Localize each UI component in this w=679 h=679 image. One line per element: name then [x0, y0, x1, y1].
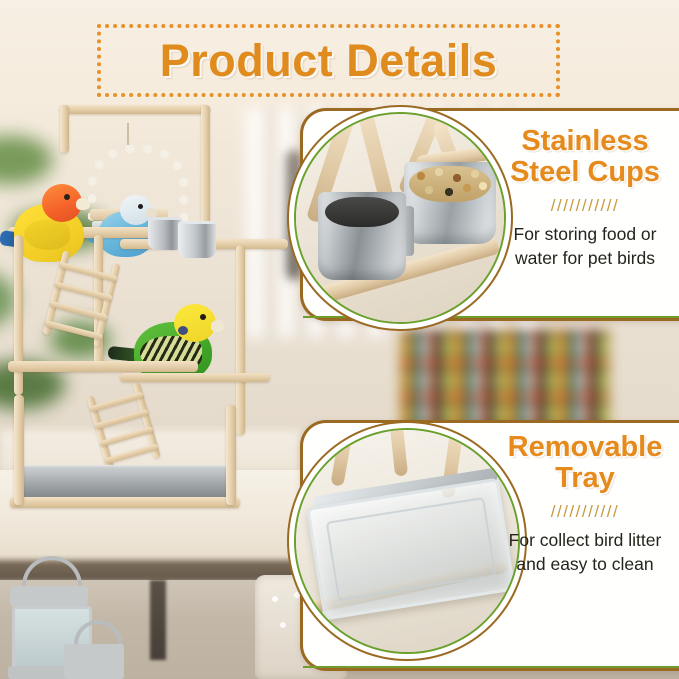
photo-lantern-small [60, 620, 130, 679]
feature-text-stainless-steel-cups: Stainless Steel Cups /////////// For sto… [492, 126, 678, 271]
feature-heading-line2: Tray [555, 462, 615, 494]
photo-ladder [86, 380, 167, 472]
steel-cup-with-seed [404, 162, 496, 244]
infographic-canvas: Product Details Stainless Steel Cups ///… [0, 0, 679, 679]
stand-post [226, 405, 236, 505]
removable-tray-photo [296, 430, 518, 652]
feature-image-removable-tray [294, 428, 520, 654]
stand-mid-platform [8, 361, 198, 372]
photo-steel-cup [178, 221, 216, 258]
feature-divider: /////////// [492, 196, 678, 216]
feature-heading: Removable Tray [492, 432, 678, 495]
feature-divider: /////////// [492, 502, 678, 522]
feature-body-line1: For collect bird litter [509, 530, 662, 550]
stand-post [201, 105, 210, 235]
feature-body: For storing food or water for pet birds [492, 222, 678, 272]
stand-base-rail [10, 497, 240, 508]
feature-heading-line1: Stainless [521, 125, 648, 157]
stand-post [236, 245, 245, 435]
steel-cups-photo [296, 114, 504, 322]
page-title-box: Product Details [97, 24, 560, 97]
feature-body-line1: For storing food or [514, 224, 657, 244]
steel-cup-empty [318, 192, 406, 280]
photo-table-leg [150, 580, 166, 660]
feature-image-stainless-steel-cups [294, 112, 506, 324]
feature-text-removable-tray: Removable Tray /////////// For collect b… [492, 432, 678, 577]
photo-bird-playstand [0, 105, 290, 525]
stand-post [14, 395, 24, 505]
photo-steel-cup [148, 217, 182, 250]
feature-heading: Stainless Steel Cups [492, 126, 678, 189]
feature-body-line2: and easy to clean [516, 554, 653, 574]
page-title: Product Details [160, 35, 498, 87]
stand-post [60, 105, 69, 153]
feature-heading-line2: Steel Cups [510, 156, 660, 188]
feature-heading-line1: Removable [508, 431, 663, 463]
stand-top-rail [60, 105, 210, 114]
feature-body-line2: water for pet birds [515, 248, 655, 268]
feature-body: For collect bird litter and easy to clea… [492, 528, 678, 578]
